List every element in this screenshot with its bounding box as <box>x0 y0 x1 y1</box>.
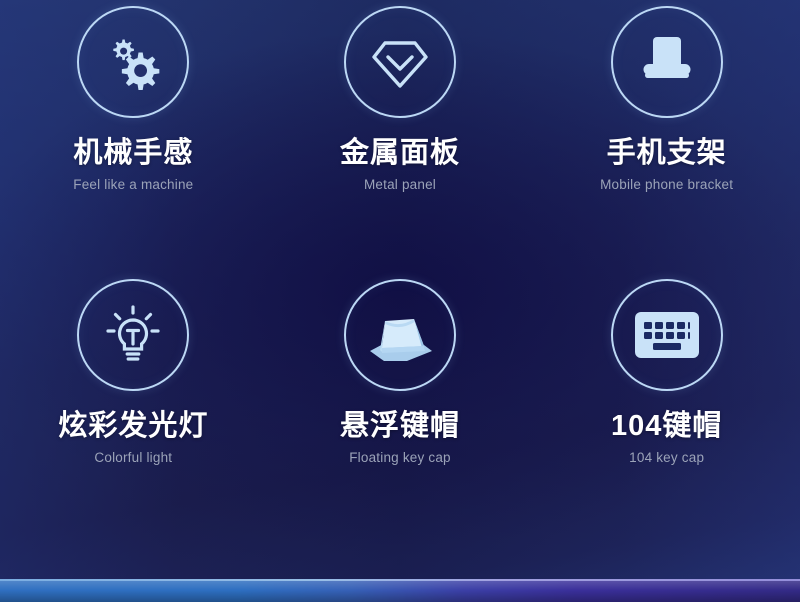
feature-title-en: Floating key cap <box>349 450 451 465</box>
icon-circle <box>77 6 189 118</box>
lightbulb-icon <box>97 299 169 371</box>
feature-item-phone-bracket: 手机支架 Mobile phone bracket <box>533 0 800 273</box>
icon-circle <box>344 6 456 118</box>
feature-item-mechanical-feel: 机械手感 Feel like a machine <box>0 0 267 273</box>
feature-title-en: Feel like a machine <box>73 177 193 192</box>
feature-item-metal-panel: 金属面板 Metal panel <box>267 0 534 273</box>
feature-title-en: Colorful light <box>94 450 172 465</box>
feature-title-cn: 机械手感 <box>73 138 193 168</box>
feature-item-floating-keycap: 悬浮键帽 Floating key cap <box>267 273 534 546</box>
feature-title-cn: 悬浮键帽 <box>340 411 460 441</box>
feature-title-en: 104 key cap <box>629 450 704 465</box>
icon-circle <box>344 279 456 391</box>
feature-banner: 机械手感 Feel like a machine 金属面板 Metal pane… <box>0 0 800 602</box>
feature-title-en: Mobile phone bracket <box>600 177 733 192</box>
feature-title-cn: 手机支架 <box>607 138 727 168</box>
feature-title-cn: 104键帽 <box>611 411 722 441</box>
keycap-icon <box>362 304 438 366</box>
diamond-icon <box>364 26 436 98</box>
icon-circle <box>611 6 723 118</box>
feature-title-cn: 炫彩发光灯 <box>58 411 208 441</box>
feature-title-cn: 金属面板 <box>340 138 460 168</box>
feature-item-colorful-light: 炫彩发光灯 Colorful light <box>0 273 267 546</box>
bottom-accent-strip <box>0 579 800 602</box>
keyboard-icon <box>631 308 703 362</box>
feature-title-en: Metal panel <box>364 177 436 192</box>
feature-grid: 机械手感 Feel like a machine 金属面板 Metal pane… <box>0 0 800 545</box>
feature-item-104-keycap: 104键帽 104 key cap <box>533 273 800 546</box>
phone-bracket-icon <box>630 25 704 99</box>
icon-circle <box>77 279 189 391</box>
strip-shading <box>0 581 800 602</box>
icon-circle <box>611 279 723 391</box>
gears-icon <box>98 27 168 97</box>
